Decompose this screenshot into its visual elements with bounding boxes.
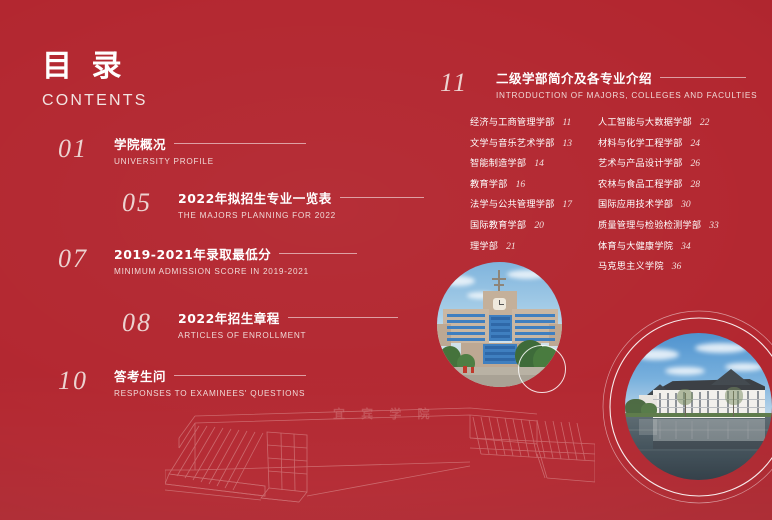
toc-title-cn: 答考生问: [114, 369, 166, 384]
department-page: 30: [681, 200, 691, 210]
gate-sign-text: 宜 宾 学 院: [333, 406, 436, 421]
list-item[interactable]: 农林与食品工程学部28: [598, 176, 719, 190]
toc-rule: [174, 143, 306, 144]
department-name: 法学与公共管理学部: [470, 196, 555, 210]
department-name: 经济与工商管理学部: [470, 114, 555, 128]
list-item[interactable]: 理学部21: [470, 238, 572, 252]
list-item[interactable]: 国际教育学部20: [470, 217, 572, 231]
department-name: 马克思主义学院: [598, 258, 664, 272]
toc-title-cn: 2019-2021年录取最低分: [114, 247, 271, 262]
department-name: 国际应用技术学部: [598, 196, 673, 210]
toc-item-05[interactable]: 05 2022年拟招生专业一览表 THE MAJORS PLANNING FOR…: [122, 190, 424, 220]
list-item[interactable]: 法学与公共管理学部17: [470, 196, 572, 210]
department-page: 28: [691, 180, 701, 190]
toc-title-cn: 学院概况: [114, 137, 166, 152]
list-item[interactable]: 材料与化学工程学部24: [598, 135, 719, 149]
toc-rule: [279, 253, 357, 254]
department-page: 11: [563, 118, 572, 128]
toc-title-cn: 2022年拟招生专业一览表: [178, 191, 332, 206]
list-item[interactable]: 智能制造学部14: [470, 155, 572, 169]
department-name: 文学与音乐艺术学部: [470, 135, 555, 149]
department-name: 人工智能与大数据学部: [598, 114, 692, 128]
page-title-cn: 目 录: [42, 52, 148, 82]
page-title-en: CONTENTS: [42, 92, 148, 110]
toc-number: 08: [122, 310, 168, 336]
department-name: 质量管理与检验检测学部: [598, 217, 701, 231]
toc-item-11[interactable]: 11 二级学部简介及各专业介绍 INTRODUCTION OF MAJORS, …: [440, 70, 757, 100]
department-name: 教育学部: [470, 176, 508, 190]
department-lists: 经济与工商管理学部11 文学与音乐艺术学部13 智能制造学部14 教育学部16 …: [470, 114, 770, 279]
department-column-left: 经济与工商管理学部11 文学与音乐艺术学部13 智能制造学部14 教育学部16 …: [470, 114, 572, 279]
department-page: 13: [563, 139, 573, 149]
toc-item-01[interactable]: 01 学院概况 UNIVERSITY PROFILE: [58, 136, 306, 166]
department-page: 24: [691, 139, 701, 149]
toc-number: 01: [58, 136, 104, 162]
toc-title-en: UNIVERSITY PROFILE: [114, 157, 306, 166]
department-page: 22: [700, 118, 710, 128]
toc-title-en: MINIMUM ADMISSION SCORE IN 2019-2021: [114, 267, 357, 276]
department-page: 17: [563, 200, 573, 210]
page-title: 目 录 CONTENTS: [42, 52, 148, 110]
department-page: 14: [534, 159, 544, 169]
list-item[interactable]: 教育学部16: [470, 176, 572, 190]
list-item[interactable]: 艺术与产品设计学部26: [598, 155, 719, 169]
department-page: 20: [534, 221, 544, 231]
department-page: 33: [709, 221, 719, 231]
toc-title-cn: 二级学部简介及各专业介绍: [496, 71, 652, 86]
toc-number: 05: [122, 190, 168, 216]
campus-gate-line-art: 宜 宾 学 院: [165, 392, 595, 520]
toc-title-en: THE MAJORS PLANNING FOR 2022: [178, 211, 424, 220]
toc-number: 10: [58, 368, 104, 394]
department-name: 理学部: [470, 238, 498, 252]
contents-page: 目 录 CONTENTS 01 学院概况 UNIVERSITY PROFILE …: [0, 0, 772, 520]
toc-item-08[interactable]: 08 2022年招生章程 ARTICLES OF ENROLLMENT: [122, 310, 398, 340]
toc-title-en: INTRODUCTION OF MAJORS, COLLEGES AND FAC…: [496, 91, 757, 100]
toc-title-cn: 2022年招生章程: [178, 311, 280, 326]
toc-title-en: RESPONSES TO EXAMINEES' QUESTIONS: [114, 389, 306, 398]
list-item[interactable]: 马克思主义学院36: [598, 258, 719, 272]
toc-rule: [174, 375, 306, 376]
list-item[interactable]: 体育与大健康学院34: [598, 238, 719, 252]
department-page: 34: [681, 242, 691, 252]
department-name: 艺术与产品设计学部: [598, 155, 683, 169]
toc-item-10[interactable]: 10 答考生问 RESPONSES TO EXAMINEES' QUESTION…: [58, 368, 306, 398]
department-name: 农林与食品工程学部: [598, 176, 683, 190]
list-item[interactable]: 国际应用技术学部30: [598, 196, 719, 210]
toc-number: 11: [440, 70, 486, 96]
department-name: 智能制造学部: [470, 155, 526, 169]
toc-rule: [340, 197, 424, 198]
photo-white-building-reflection: [625, 333, 772, 480]
toc-rule: [288, 317, 398, 318]
department-name: 材料与化学工程学部: [598, 135, 683, 149]
department-page: 16: [516, 180, 526, 190]
toc-item-07[interactable]: 07 2019-2021年录取最低分 MINIMUM ADMISSION SCO…: [58, 246, 357, 276]
list-item[interactable]: 人工智能与大数据学部22: [598, 114, 719, 128]
toc-title-en: ARTICLES OF ENROLLMENT: [178, 331, 398, 340]
toc-number: 07: [58, 246, 104, 272]
toc-rule: [660, 77, 746, 78]
list-item[interactable]: 文学与音乐艺术学部13: [470, 135, 572, 149]
department-page: 26: [691, 159, 701, 169]
department-name: 体育与大健康学院: [598, 238, 673, 252]
decorative-ring-small: [518, 345, 566, 393]
department-page: 36: [672, 262, 682, 272]
department-name: 国际教育学部: [470, 217, 526, 231]
department-page: 21: [506, 242, 516, 252]
list-item[interactable]: 质量管理与检验检测学部33: [598, 217, 719, 231]
department-column-right: 人工智能与大数据学部22 材料与化学工程学部24 艺术与产品设计学部26 农林与…: [598, 114, 719, 279]
list-item[interactable]: 经济与工商管理学部11: [470, 114, 572, 128]
